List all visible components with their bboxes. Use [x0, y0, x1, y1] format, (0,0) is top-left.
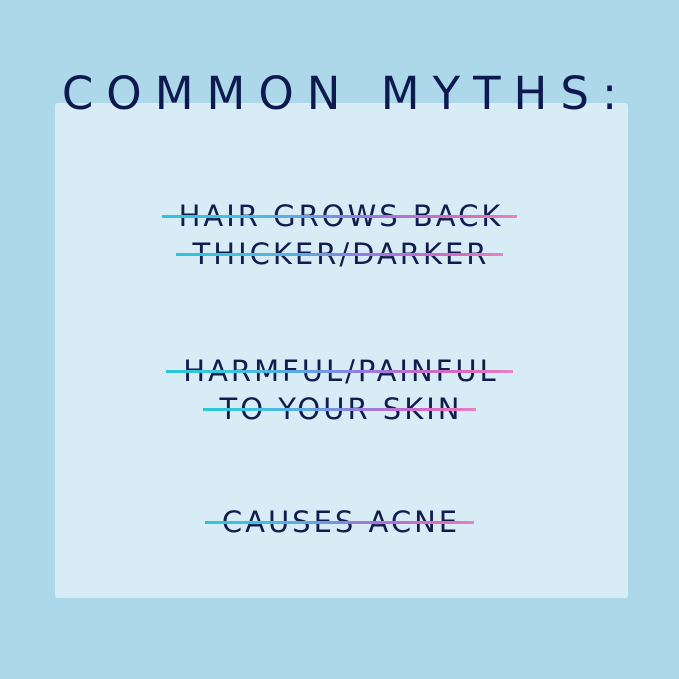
page-title: COMMON MYTHS:	[0, 66, 679, 122]
myth-item-hair-grows-back: HAIR GROWS BACK THICKER/DARKER	[0, 197, 679, 273]
struck-myth-text: HARMFUL/PAINFUL	[166, 352, 512, 390]
myth-line-wrap: HAIR GROWS BACK	[0, 197, 679, 235]
struck-myth-text: THICKER/DARKER	[176, 235, 504, 273]
myth-item-causes-acne: CAUSES ACNE	[0, 503, 679, 541]
struck-myth-text: TO YOUR SKIN	[203, 390, 477, 428]
poster-canvas: COMMON MYTHS: HAIR GROWS BACK THICKER/DA…	[0, 0, 679, 679]
myth-line-wrap: CAUSES ACNE	[0, 503, 679, 541]
struck-myth-text: HAIR GROWS BACK	[162, 197, 518, 235]
myth-line-wrap: HARMFUL/PAINFUL	[0, 352, 679, 390]
struck-myth-text: CAUSES ACNE	[205, 503, 474, 541]
myth-item-harmful-painful: HARMFUL/PAINFUL TO YOUR SKIN	[0, 352, 679, 428]
myth-line-wrap: THICKER/DARKER	[0, 235, 679, 273]
myth-line-wrap: TO YOUR SKIN	[0, 390, 679, 428]
